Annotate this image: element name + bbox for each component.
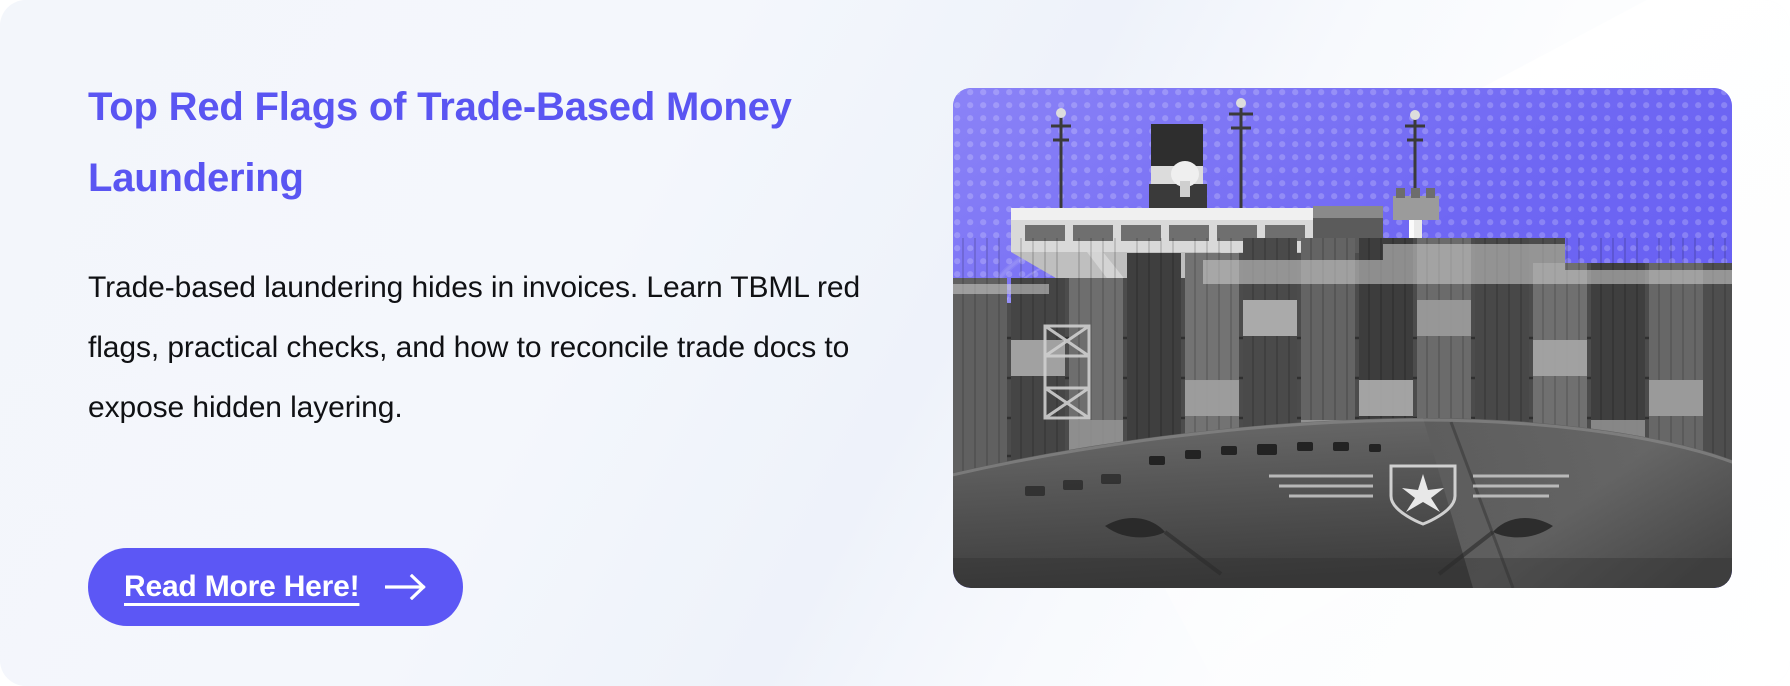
- arrow-right-icon: [385, 574, 427, 600]
- container-ship-illustration: [953, 88, 1732, 588]
- page-title: Top Red Flags of Trade-Based Money Laund…: [88, 72, 858, 214]
- promo-description: Trade-based laundering hides in invoices…: [88, 214, 878, 438]
- promo-banner-card: Top Red Flags of Trade-Based Money Laund…: [0, 0, 1790, 686]
- promo-image-card: [953, 88, 1732, 588]
- read-more-label: Read More Here!: [124, 570, 359, 604]
- promo-copy-column: Top Red Flags of Trade-Based Money Laund…: [88, 72, 878, 438]
- read-more-button[interactable]: Read More Here!: [88, 548, 463, 626]
